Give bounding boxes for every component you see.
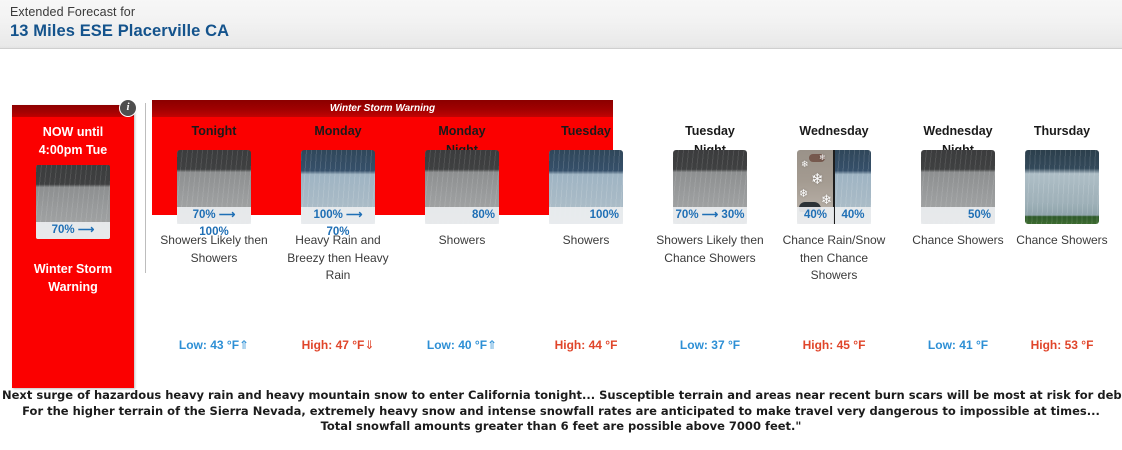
forecast-column-monday[interactable]: Monday 100% ⟶ 70% Heavy Rain and Breezy …	[276, 100, 400, 285]
temp-label: Low:	[179, 338, 207, 352]
temp-value: 53 °F	[1065, 338, 1094, 352]
temp-label: High:	[302, 338, 333, 352]
temp-label: High:	[1031, 338, 1062, 352]
day-line-1: Monday	[276, 122, 400, 141]
precip-probability-right: 40%	[835, 207, 871, 224]
temp-value: 43 °F	[210, 338, 239, 352]
precip-probability: 50%	[921, 207, 995, 224]
forecast-strip: Winter Storm Warning i NOW until 4:00pm …	[0, 50, 1122, 380]
alert-timeframe: NOW until 4:00pm Tue	[12, 123, 134, 159]
active-alert-card[interactable]: i NOW until 4:00pm Tue 70% ⟶ 100% Winter…	[12, 105, 134, 388]
forecast-thumbnail	[1025, 150, 1099, 224]
alert-divider	[145, 103, 146, 273]
forecast-description: Showers	[400, 232, 524, 250]
forecast-column-tuesday-night[interactable]: Tuesday Night 70% ⟶ 30% Showers Likely t…	[648, 100, 772, 267]
forecast-temperature-tuesday: High: 44 °F	[524, 338, 648, 352]
precip-probability-left: 40%	[797, 207, 834, 224]
temp-label: High:	[555, 338, 586, 352]
temp-value: 40 °F	[458, 338, 487, 352]
forecast-day-label: Wednesday	[772, 100, 896, 140]
narrative-line-2: For the higher terrain of the Sierra Nev…	[0, 404, 1122, 420]
forecast-description: Showers Likely then Chance Showers	[648, 232, 772, 267]
day-line-1: Monday	[400, 122, 524, 141]
day-line-1: Thursday	[1000, 122, 1122, 141]
forecast-temperature-monday: High: 47 °F⇓	[276, 338, 400, 352]
alert-timeframe-line2: 4:00pm Tue	[12, 141, 134, 159]
forecast-column-wednesday[interactable]: Wednesday ❄ ❄ ❄ ❄ ❄	[772, 100, 896, 285]
rain-landscape-icon	[1025, 150, 1099, 224]
forecast-column-tonight[interactable]: Tonight 70% ⟶ 100% Showers Likely then S…	[152, 100, 276, 267]
temp-trend-icon: ⇑	[239, 338, 249, 352]
forecast-day-label: Tonight	[152, 100, 276, 140]
day-line-1: Wednesday	[772, 122, 896, 141]
temp-label: Low:	[680, 338, 708, 352]
temp-label: Low:	[427, 338, 455, 352]
forecast-description: Showers	[524, 232, 648, 250]
temp-value: 44 °F	[589, 338, 618, 352]
temp-trend-icon: ⇑	[487, 338, 497, 352]
forecast-temperature-tuesday-night: Low: 37 °F	[648, 338, 772, 352]
alert-name-line1: Winter Storm	[12, 260, 134, 278]
temp-label: Low:	[928, 338, 956, 352]
alert-weather-thumbnail: 70% ⟶ 100%	[36, 165, 110, 239]
forecast-narrative: Next surge of hazardous heavy rain and h…	[0, 388, 1122, 435]
forecast-column-thursday[interactable]: Thursday Chance Showers	[1000, 100, 1122, 250]
forecast-thumbnail: 50%	[921, 150, 995, 224]
forecast-thumbnail: 80%	[425, 150, 499, 224]
forecast-day-label: Monday	[276, 100, 400, 140]
alert-name-line2: Warning	[12, 278, 134, 296]
precip-probability: 70% ⟶ 30%	[673, 207, 747, 224]
alert-card-cap	[12, 105, 134, 117]
forecast-description: Chance Rain/Snow then Chance Showers	[772, 232, 896, 285]
forecast-temperature-tonight: Low: 43 °F⇑	[152, 338, 276, 352]
forecast-day-label: Monday Night	[400, 100, 524, 140]
header-subtitle: Extended Forecast for	[10, 5, 135, 19]
narrative-line-1: Next surge of hazardous heavy rain and h…	[0, 388, 1122, 404]
alert-probability: 70% ⟶ 100%	[36, 222, 110, 239]
forecast-temperature-wednesday: High: 45 °F	[772, 338, 896, 352]
page-header: Extended Forecast for 13 Miles ESE Place…	[0, 0, 1122, 49]
header-location-title: 13 Miles ESE Placerville CA	[10, 22, 229, 41]
forecast-temperature-thursday: High: 53 °F	[1000, 338, 1122, 352]
forecast-thumbnail: 70% ⟶ 100%	[177, 150, 251, 224]
forecast-day-label: Tuesday Night	[648, 100, 772, 140]
temp-label: High:	[803, 338, 834, 352]
info-icon[interactable]: i	[119, 99, 137, 117]
forecast-column-monday-night[interactable]: Monday Night 80% Showers	[400, 100, 524, 250]
forecast-description: Chance Showers	[1000, 232, 1122, 250]
temp-value: 41 °F	[959, 338, 988, 352]
precip-probability: 100% ⟶ 70%	[301, 207, 375, 224]
temp-value: 45 °F	[837, 338, 866, 352]
forecast-temperature-monday-night: Low: 40 °F⇑	[400, 338, 524, 352]
forecast-day-label: Tuesday	[524, 100, 648, 140]
forecast-thumbnail: 100%	[549, 150, 623, 224]
alert-timeframe-line1: NOW until	[12, 123, 134, 141]
forecast-thumbnail: ❄ ❄ ❄ ❄ ❄ 40% 40%	[797, 150, 871, 224]
day-line-1: Tuesday	[524, 122, 648, 141]
temp-value: 47 °F	[336, 338, 365, 352]
forecast-thumbnail: 70% ⟶ 30%	[673, 150, 747, 224]
day-line-1: Tonight	[152, 122, 276, 141]
precip-probability: 100%	[549, 207, 623, 224]
precip-probability: 70% ⟶ 100%	[177, 207, 251, 224]
forecast-thumbnail: 100% ⟶ 70%	[301, 150, 375, 224]
precip-probability: 80%	[425, 207, 499, 224]
temp-trend-icon: ⇓	[364, 338, 374, 352]
day-line-1: Tuesday	[648, 122, 772, 141]
forecast-day-label: Thursday	[1000, 100, 1122, 140]
temp-value: 37 °F	[711, 338, 740, 352]
narrative-line-3: Total snowfall amounts greater than 6 fe…	[0, 419, 1122, 435]
alert-name: Winter Storm Warning	[12, 260, 134, 296]
forecast-column-tuesday[interactable]: Tuesday 100% Showers	[524, 100, 648, 250]
